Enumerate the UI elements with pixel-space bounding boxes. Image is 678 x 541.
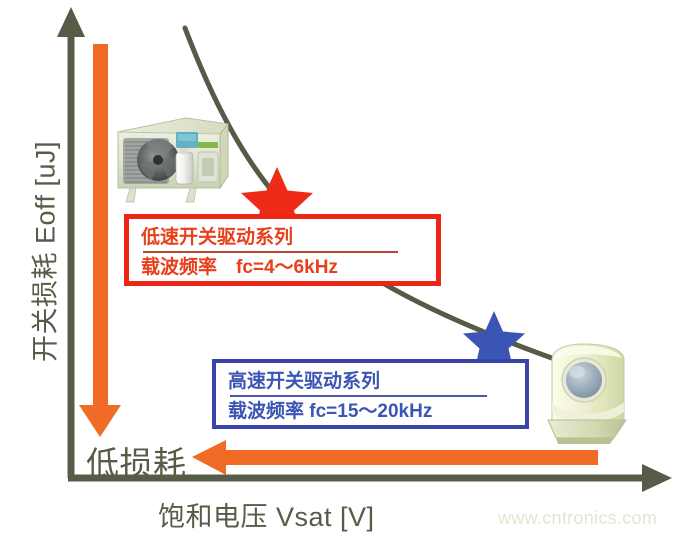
low-loss-vertical-arrow: [79, 44, 121, 437]
callout-high-speed-title: 高速开关驱动系列: [228, 369, 515, 394]
x-axis-label: 饱和电压 Vsat [V]: [158, 495, 375, 534]
low-loss-annotation: 低损耗: [86, 437, 187, 485]
watermark-text: www.cntronics.com: [498, 508, 657, 529]
washing-machine-image: [548, 344, 626, 444]
low-loss-horizontal-arrow: [192, 440, 598, 475]
callout-low-speed-title: 低速开关驱动系列: [141, 225, 426, 250]
callout-high-speed-divider: [230, 395, 487, 397]
x-axis-arrowhead: [642, 464, 672, 492]
figure-canvas: 开关损耗 Eoff [uJ] 饱和电压 Vsat [V] 低损耗 低速开关驱动系…: [0, 0, 678, 541]
y-axis-arrowhead: [57, 7, 85, 37]
callout-low-speed-switching: 低速开关驱动系列 载波频率 fc=4～6kHz: [124, 214, 441, 286]
tradeoff-curve: [185, 28, 580, 368]
callout-low-speed-divider: [143, 251, 398, 253]
y-axis-label: 开关损耗 Eoff [uJ]: [24, 72, 63, 432]
left-arrowhead: [192, 440, 226, 475]
callout-low-speed-detail: 载波频率 fc=4～6kHz: [141, 255, 426, 280]
down-arrowhead: [79, 405, 121, 437]
callout-high-speed-detail: 载波频率 fc=15～20kHz: [228, 399, 515, 424]
air-conditioner-outdoor-unit-image: [118, 118, 228, 202]
callout-high-speed-switching: 高速开关驱动系列 载波频率 fc=15～20kHz: [212, 359, 529, 429]
